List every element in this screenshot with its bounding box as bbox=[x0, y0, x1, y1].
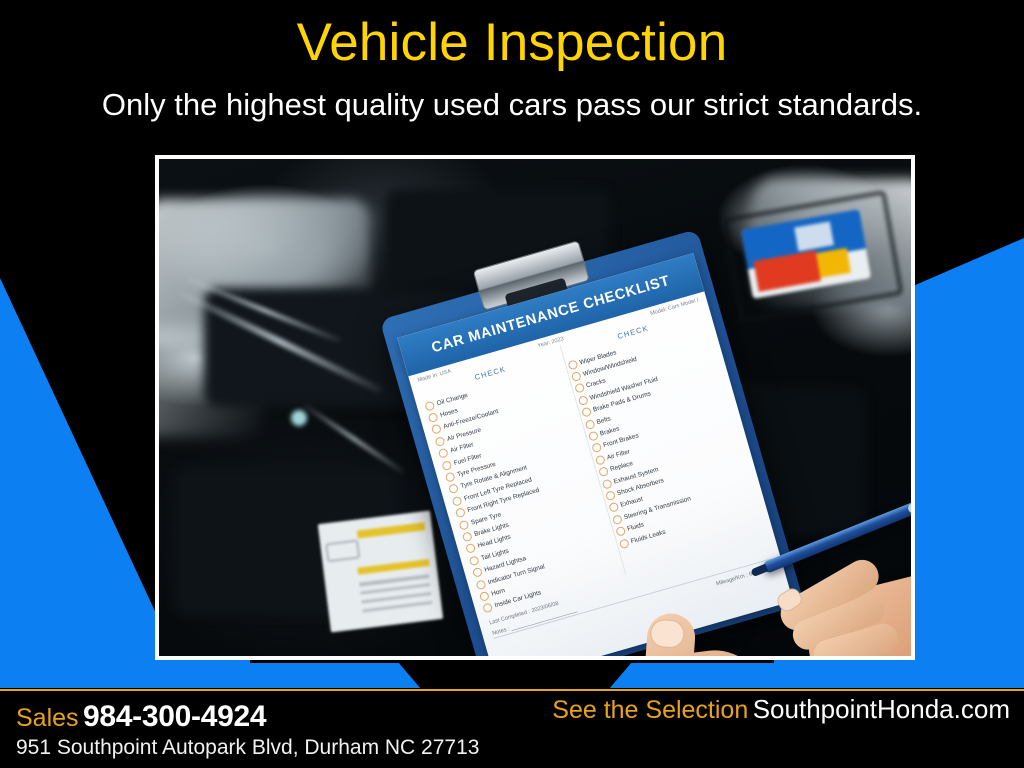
checkbox-bubble-icon[interactable] bbox=[567, 359, 578, 370]
checkbox-bubble-icon[interactable] bbox=[424, 400, 435, 411]
checkbox-bubble-icon[interactable] bbox=[458, 519, 469, 530]
sales-label: Sales bbox=[16, 704, 79, 732]
sales-phone-number[interactable]: 984-300-4924 bbox=[83, 700, 266, 733]
battery-label-yellow bbox=[815, 248, 850, 278]
inspection-photo: CAR MAINTENANCE CHECKLIST Made in: USA Y… bbox=[159, 159, 911, 656]
checkbox-bubble-icon[interactable] bbox=[469, 555, 480, 566]
see-the-selection-label: See the Selection bbox=[552, 696, 748, 724]
checkbox-bubble-icon[interactable] bbox=[615, 526, 626, 537]
page-title: Vehicle Inspection bbox=[0, 14, 1024, 72]
website-link[interactable]: SouthpointHonda.com bbox=[753, 694, 1010, 724]
page-subtitle: Only the highest quality used cars pass … bbox=[0, 86, 1024, 124]
coolant-cap bbox=[291, 410, 307, 426]
checkbox-bubble-icon[interactable] bbox=[608, 502, 619, 513]
checkbox-bubble-icon[interactable] bbox=[445, 472, 456, 483]
checkbox-bubble-icon[interactable] bbox=[431, 424, 442, 435]
checkbox-bubble-icon[interactable] bbox=[451, 495, 462, 506]
checkbox-bubble-icon[interactable] bbox=[584, 419, 595, 430]
slide-canvas: Vehicle Inspection Only the highest qual… bbox=[0, 0, 1024, 768]
checkbox-bubble-icon[interactable] bbox=[475, 579, 486, 590]
checkbox-bubble-icon[interactable] bbox=[479, 591, 490, 602]
checkbox-bubble-icon[interactable] bbox=[594, 455, 605, 466]
checkbox-bubble-icon[interactable] bbox=[434, 436, 445, 447]
checkbox-bubble-icon[interactable] bbox=[455, 507, 466, 518]
sales-contact: Sales 984-300-4924 bbox=[16, 700, 266, 734]
checkbox-bubble-icon[interactable] bbox=[428, 412, 439, 423]
checkbox-bubble-icon[interactable] bbox=[472, 567, 483, 578]
selection-cta: See the Selection SouthpointHonda.com bbox=[552, 694, 1010, 725]
checkbox-bubble-icon[interactable] bbox=[448, 484, 459, 495]
checkbox-bubble-icon[interactable] bbox=[465, 543, 476, 554]
checkbox-bubble-icon[interactable] bbox=[438, 448, 449, 459]
tag-highlight bbox=[358, 559, 430, 574]
checkbox-bubble-icon[interactable] bbox=[618, 538, 629, 549]
checkbox-bubble-icon[interactable] bbox=[441, 460, 452, 471]
engine-warning-tag bbox=[318, 510, 443, 632]
checkbox-bubble-icon[interactable] bbox=[577, 395, 588, 406]
tag-hole bbox=[325, 539, 360, 562]
checkbox-bubble-icon[interactable] bbox=[598, 466, 609, 477]
checkbox-bubble-icon[interactable] bbox=[482, 603, 493, 614]
contact-footer: Sales 984-300-4924 951 Southpoint Autopa… bbox=[0, 692, 1024, 768]
tag-highlight bbox=[358, 522, 426, 538]
checkbox-bubble-icon[interactable] bbox=[604, 490, 615, 501]
blue-band-notch bbox=[395, 662, 635, 689]
checkbox-bubble-icon[interactable] bbox=[601, 478, 612, 489]
checkbox-bubble-icon[interactable] bbox=[611, 514, 622, 525]
inspection-photo-frame: CAR MAINTENANCE CHECKLIST Made in: USA Y… bbox=[155, 155, 915, 660]
checkbox-bubble-icon[interactable] bbox=[591, 443, 602, 454]
checkbox-bubble-icon[interactable] bbox=[574, 383, 585, 394]
checkbox-bubble-icon[interactable] bbox=[581, 407, 592, 418]
dealership-address: 951 Southpoint Autopark Blvd, Durham NC … bbox=[16, 736, 479, 760]
checkbox-bubble-icon[interactable] bbox=[587, 431, 598, 442]
checkbox-bubble-icon[interactable] bbox=[462, 531, 473, 542]
checkbox-bubble-icon[interactable] bbox=[570, 371, 581, 382]
